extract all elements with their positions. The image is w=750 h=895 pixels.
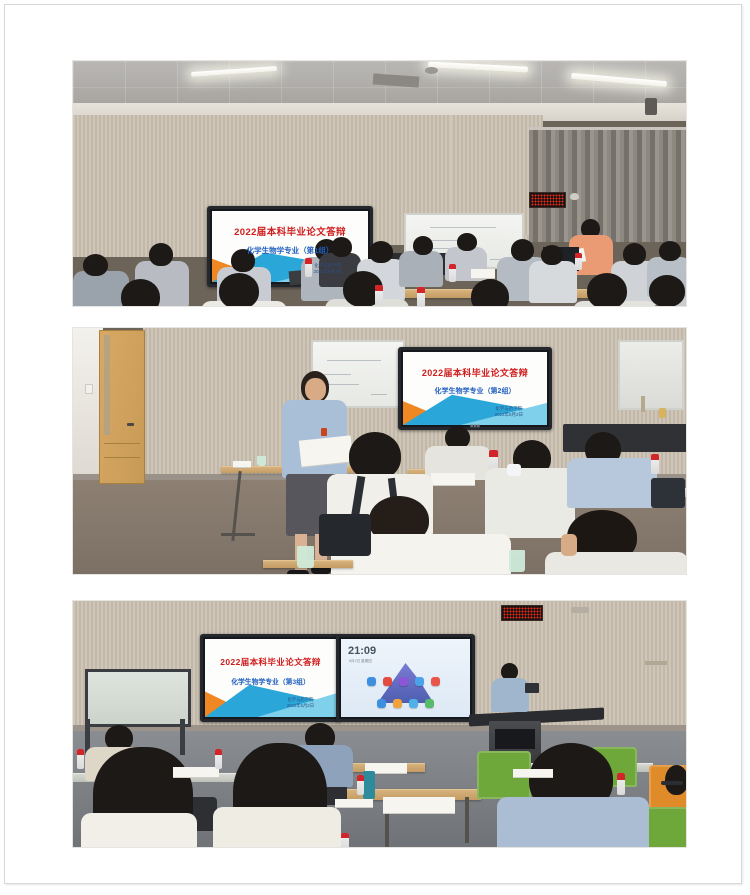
- app-icon: [431, 677, 440, 686]
- smart-board-screen[interactable]: 2022届本科毕业论文答辩 化学生物学专业（第3组） 化学与药学院 2022年6…: [200, 634, 341, 722]
- app-icon: [383, 677, 392, 686]
- security-camera: [570, 193, 579, 200]
- defense-slide: 2022届本科毕业论文答辩 化学生物学专业（第3组） 化学与药学院 2022年6…: [205, 639, 336, 717]
- teacher-face: [305, 378, 326, 401]
- slide-footer: 化学与药学院 2022年6月2日: [313, 263, 342, 276]
- tea-cup: [509, 550, 525, 572]
- audience-head: [665, 765, 687, 795]
- audience-head: [541, 245, 563, 265]
- classroom-door[interactable]: [99, 330, 145, 484]
- ceiling-dome-camera: [425, 67, 438, 74]
- app-icon: [425, 699, 434, 708]
- home-date: 6月2日 星期四: [349, 659, 372, 664]
- desk-leg: [465, 797, 469, 843]
- slide-footer: 化学与药学院 2022年6月2日: [494, 406, 523, 419]
- document-page: 2022届本科毕业论文答辩 化学生物学专业（第1组） 化学与药学院 2022年6…: [4, 4, 742, 884]
- water-bottle: [305, 258, 312, 277]
- water-bottle: [449, 264, 456, 282]
- screen-brand: ◼◼◼: [470, 423, 480, 428]
- app-icon: [399, 677, 408, 686]
- app-icon: [409, 699, 418, 708]
- audience-person: [485, 468, 575, 538]
- audience-head: [369, 241, 393, 263]
- face-mask: [507, 464, 521, 476]
- tea-cup: [297, 546, 314, 568]
- water-bottle: [417, 287, 425, 307]
- table-leg: [221, 533, 255, 536]
- smart-board-home-screen[interactable]: 21:09 6月2日 星期四: [336, 634, 475, 722]
- app-icon-row-top[interactable]: [367, 677, 440, 686]
- podium-equipment: [495, 729, 535, 749]
- photo-1[interactable]: 2022届本科毕业论文答辩 化学生物学专业（第1组） 化学与药学院 2022年6…: [72, 60, 687, 307]
- audience-head: [331, 237, 352, 257]
- photo-2[interactable]: 2022届本科毕业论文答辩 化学生物学专业（第2组） 化学与药学院 2022年6…: [72, 327, 687, 575]
- slide-date: 2022年6月2日: [313, 269, 342, 274]
- water-bottle: [575, 253, 582, 270]
- whiteboard-stand: [180, 719, 185, 755]
- audience-head: [471, 279, 509, 307]
- slide-footer: 化学与药学院 2022年6月2日: [287, 697, 314, 709]
- water-bottle: [617, 773, 625, 795]
- slide-title: 2022届本科毕业论文答辩: [220, 656, 321, 668]
- audience-head: [121, 279, 160, 307]
- defense-slide: 2022届本科毕业论文答辩 化学生物学专业（第2组） 化学与药学院 2022年6…: [403, 352, 547, 425]
- backpack: [651, 478, 685, 508]
- home-clock: 21:09: [348, 645, 376, 657]
- presenter-laptop: [525, 683, 539, 693]
- teacher-script: [299, 435, 353, 466]
- water-bottle: [341, 833, 349, 848]
- thermos-bottle: [363, 771, 375, 799]
- audience-head: [623, 243, 646, 265]
- slide-org: 化学与药学院: [314, 263, 341, 268]
- av-cabinet: [563, 424, 687, 452]
- water-bottle: [357, 775, 364, 795]
- slide-date: 2022年6月2日: [287, 703, 314, 708]
- slide-title: 2022届本科毕业论文答辩: [234, 224, 346, 238]
- presenter-body: [491, 678, 529, 712]
- audience-head: [349, 432, 401, 480]
- photo-3[interactable]: 2022届本科毕业论文答辩 化学生物学专业（第3组） 化学与药学院 2022年6…: [72, 600, 687, 848]
- water-bottle: [77, 749, 84, 769]
- app-icon-row-bottom[interactable]: [377, 699, 434, 708]
- led-display-sign: [529, 192, 566, 208]
- documents-on-desk: [471, 269, 495, 278]
- water-bottle: [215, 749, 222, 769]
- led-display-sign: [501, 605, 543, 621]
- documents-on-desk: [431, 473, 475, 485]
- audience-person: [81, 813, 197, 848]
- window-curtain: [529, 130, 687, 242]
- smart-board-screen[interactable]: 2022届本科毕业论文答辩 化学生物学专业（第2组） 化学与药学院 2022年6…: [398, 347, 552, 430]
- audience-head: [649, 275, 685, 307]
- documents-on-desk: [173, 767, 219, 777]
- app-icon: [367, 677, 376, 686]
- light-switch[interactable]: [85, 384, 93, 394]
- teacher-shoe: [287, 570, 309, 575]
- side-whiteboard: [85, 669, 191, 727]
- documents-on-desk: [335, 799, 373, 807]
- tea-cup: [257, 456, 266, 466]
- documents-on-table: [233, 461, 251, 467]
- whiteboard-frame-right: [618, 340, 684, 410]
- documents-on-desk: [383, 797, 455, 813]
- wall-hook: [641, 396, 645, 412]
- slide-org: 化学与药学院: [495, 406, 522, 411]
- audience-head: [219, 273, 259, 307]
- documents-on-desk: [513, 769, 553, 777]
- eyeglasses: [661, 781, 683, 785]
- slide-date: 2022年6月2日: [494, 412, 523, 417]
- app-icon: [377, 699, 386, 708]
- slide-org: 化学与药学院: [287, 697, 313, 702]
- audience-person: [399, 251, 443, 287]
- wall-fixture: [659, 408, 666, 418]
- audience-person: [567, 458, 657, 508]
- slide-subtitle: 化学生物学专业（第2组）: [435, 386, 516, 396]
- audience-person: [213, 807, 341, 848]
- audience-head: [587, 273, 627, 307]
- wall-speaker: [645, 98, 657, 115]
- audience-head: [413, 236, 433, 255]
- slide-subtitle: 化学生物学专业（第1组）: [247, 245, 334, 256]
- audience-head: [83, 254, 108, 276]
- chair-back: [319, 514, 371, 556]
- audience-head: [149, 243, 173, 266]
- audience-person: [529, 261, 577, 303]
- slide-title: 2022届本科毕业论文答辩: [422, 366, 528, 379]
- teacher-badge: [321, 428, 327, 436]
- water-bottle: [651, 454, 659, 474]
- home-screen: 21:09 6月2日 星期四: [341, 639, 470, 717]
- app-icon: [393, 699, 402, 708]
- audience-head: [457, 233, 477, 251]
- slide-subtitle: 化学生物学专业（第3组）: [231, 676, 310, 686]
- audience-hand: [561, 534, 577, 556]
- app-icon: [415, 677, 424, 686]
- wall-vent: [571, 607, 589, 613]
- audience-person: [497, 797, 649, 848]
- audience-head: [511, 239, 534, 261]
- audience-head: [659, 241, 681, 261]
- wall-hooks: [645, 661, 667, 665]
- water-bottle: [375, 285, 383, 305]
